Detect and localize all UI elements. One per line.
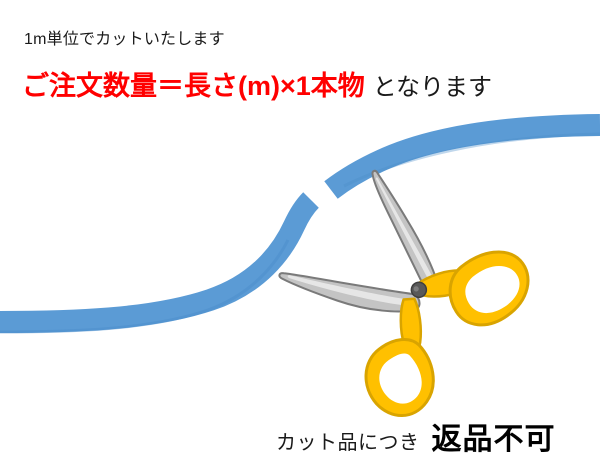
footer-return-policy-emphasis: 返品不可 [432, 414, 556, 458]
headline-cut-unit: 1m単位でカットいたします [24, 30, 225, 50]
footer-return-policy: カット品につき 返品不可 [276, 414, 556, 458]
headline-order-formula-red: ご注文数量＝長さ(m)×1本物 [22, 71, 365, 101]
scissors-group [256, 130, 561, 440]
cord-left-segment [0, 200, 311, 322]
headline-order-formula: ご注文数量＝長さ(m)×1本物となります [22, 70, 492, 104]
headline-order-formula-black: となります [373, 74, 492, 101]
footer-return-policy-prefix: カット品につき [276, 426, 420, 455]
cut-notice-page: 1m単位でカットいたします ご注文数量＝長さ(m)×1本物となります カット品に… [0, 0, 600, 466]
scissor-blade-lower-highlight [375, 175, 433, 282]
